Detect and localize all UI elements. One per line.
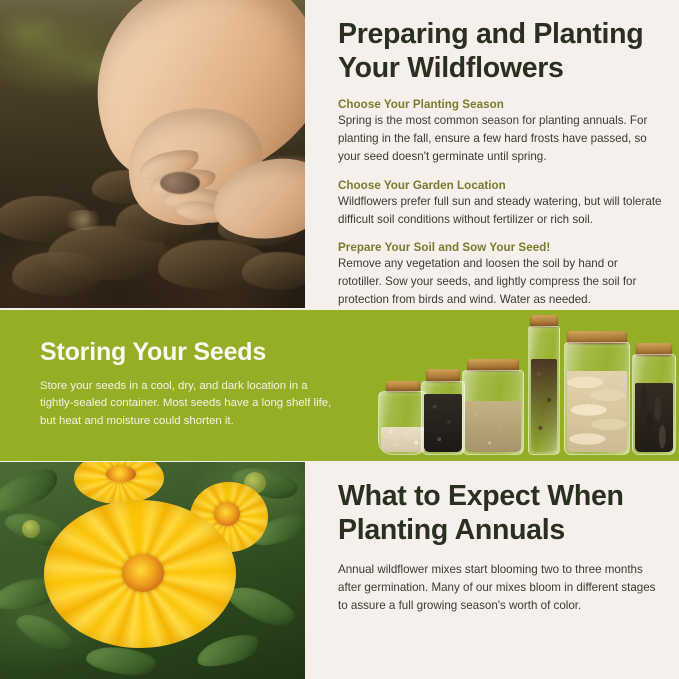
seeds-in-hand bbox=[160, 172, 200, 194]
jar-contents bbox=[424, 394, 462, 452]
glass-jars-of-seeds-photo bbox=[378, 313, 636, 461]
storing-title: Storing Your Seeds bbox=[40, 339, 340, 367]
soil-clod bbox=[12, 252, 104, 296]
expect-text-column: What to Expect When Planting Annuals Ann… bbox=[338, 480, 664, 615]
leaf bbox=[0, 463, 63, 520]
planting-text-column: Preparing and Planting Your Wildflowers … bbox=[338, 18, 664, 309]
bloom-center bbox=[214, 502, 240, 526]
hand-sowing-seeds-in-soil-photo bbox=[0, 0, 305, 308]
seed-jar bbox=[528, 315, 560, 455]
soil-highlight bbox=[60, 210, 106, 230]
jar-glass bbox=[421, 381, 465, 455]
jar-contents bbox=[567, 371, 627, 452]
subsection-body: Wildflowers prefer full sun and steady w… bbox=[338, 193, 664, 229]
leaf bbox=[223, 579, 298, 633]
subsection-body: Spring is the most common season for pla… bbox=[338, 112, 664, 166]
infographic-page: Preparing and Planting Your Wildflowers … bbox=[0, 0, 679, 679]
bloom-center bbox=[122, 554, 164, 592]
jar-glass bbox=[632, 354, 676, 455]
jar-glass bbox=[564, 342, 630, 455]
jar-contents bbox=[465, 401, 521, 452]
bloom-center bbox=[106, 466, 136, 482]
yellow-coreopsis-flower-photo bbox=[0, 462, 305, 679]
page-title: Preparing and Planting Your Wildflowers bbox=[338, 18, 664, 85]
flower-bud bbox=[22, 520, 40, 538]
subsection-prepare-soil: Prepare Your Soil and Sow Your Seed! Rem… bbox=[338, 241, 664, 309]
leaf bbox=[194, 630, 263, 673]
jar-contents bbox=[635, 383, 673, 452]
subsection-garden-location: Choose Your Garden Location Wildflowers … bbox=[338, 179, 664, 229]
expect-body: Annual wildflower mixes start blooming t… bbox=[338, 561, 664, 615]
subsection-planting-season: Choose Your Planting Season Spring is th… bbox=[338, 98, 664, 166]
subsection-heading: Choose Your Planting Season bbox=[338, 98, 664, 111]
subsection-body: Remove any vegetation and loosen the soi… bbox=[338, 255, 664, 309]
seed-jar bbox=[462, 359, 524, 455]
subsection-heading: Prepare Your Soil and Sow Your Seed! bbox=[338, 241, 664, 254]
leaf bbox=[85, 643, 158, 678]
jar-contents bbox=[381, 427, 425, 452]
seed-jar bbox=[632, 343, 676, 455]
storing-text-column: Storing Your Seeds Store your seeds in a… bbox=[40, 339, 340, 431]
jar-contents bbox=[531, 359, 557, 452]
seed-jar bbox=[564, 331, 630, 455]
jar-glass bbox=[528, 326, 560, 455]
storing-body: Store your seeds in a cool, dry, and dar… bbox=[40, 378, 340, 431]
subsection-heading: Choose Your Garden Location bbox=[338, 179, 664, 192]
storing-seeds-band: Storing Your Seeds Store your seeds in a… bbox=[0, 310, 679, 461]
soil-clod bbox=[242, 252, 305, 290]
seed-jar bbox=[421, 369, 465, 455]
jar-glass bbox=[462, 370, 524, 455]
expect-title: What to Expect When Planting Annuals bbox=[338, 480, 664, 547]
